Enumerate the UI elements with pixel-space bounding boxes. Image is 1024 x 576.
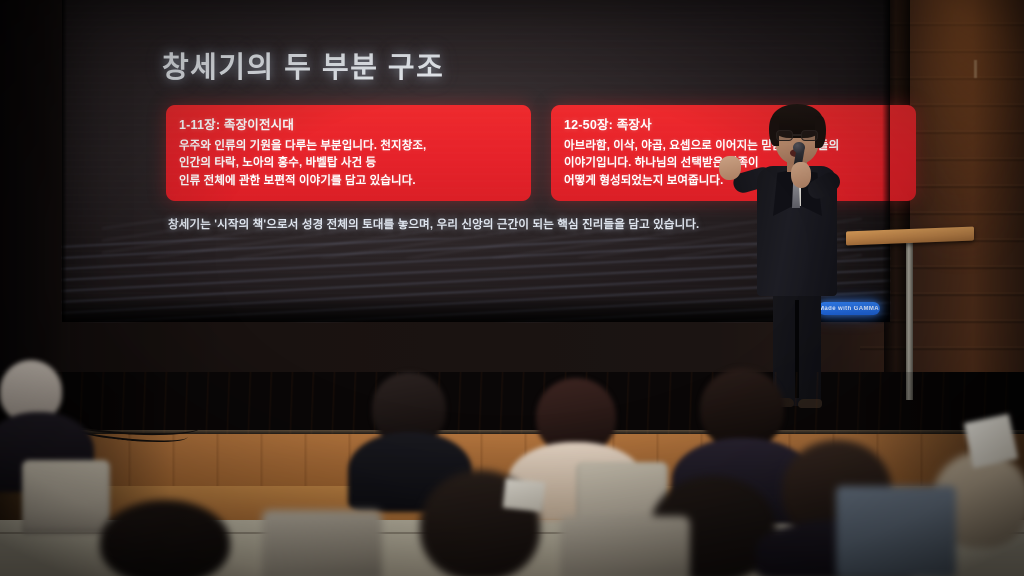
glasses-lens-left (776, 130, 793, 141)
card-left-line-2: 인간의 타락, 노아의 홍수, 바벨탑 사건 등 (179, 155, 518, 172)
audience-chair[interactable] (560, 516, 690, 576)
presenter (735, 104, 855, 404)
audience-handout-paper (503, 478, 546, 512)
slide-title: 창세기의 두 부분 구조 (162, 44, 444, 86)
lecture-hall-scene: 창세기의 두 부분 구조 1-11장: 족장이전시대 우주와 인류의 기원을 다… (0, 0, 1024, 576)
audience-chair[interactable] (836, 486, 956, 576)
presenter-hand-left (719, 156, 741, 180)
glasses-icon (776, 130, 818, 141)
audience-chair[interactable] (262, 510, 382, 576)
audience-head (100, 500, 230, 576)
glasses-bridge (793, 134, 801, 136)
glasses-lens-right (801, 130, 818, 141)
audience-chair[interactable] (22, 460, 110, 534)
wall-left-shadow (0, 0, 70, 372)
card-left-line-3: 인류 전체에 관한 보편적 이야기를 담고 있습니다. (179, 173, 518, 190)
screen-left-edge (62, 0, 67, 322)
screen-right-edge (882, 0, 890, 322)
card-left-heading: 1-11장: 족장이전시대 (179, 114, 518, 133)
microphone-head (793, 142, 805, 153)
card-left-line-1: 우주와 인류의 기원을 다루는 부분입니다. 천지창조, (179, 138, 518, 155)
audience-head (700, 368, 784, 448)
wall-light-sliver (974, 60, 977, 78)
presenter-hand-right (791, 162, 811, 188)
slide-card-left: 1-11장: 족장이전시대 우주와 인류의 기원을 다루는 부분입니다. 천지창… (166, 105, 531, 201)
audience-handout-paper (964, 414, 1019, 469)
